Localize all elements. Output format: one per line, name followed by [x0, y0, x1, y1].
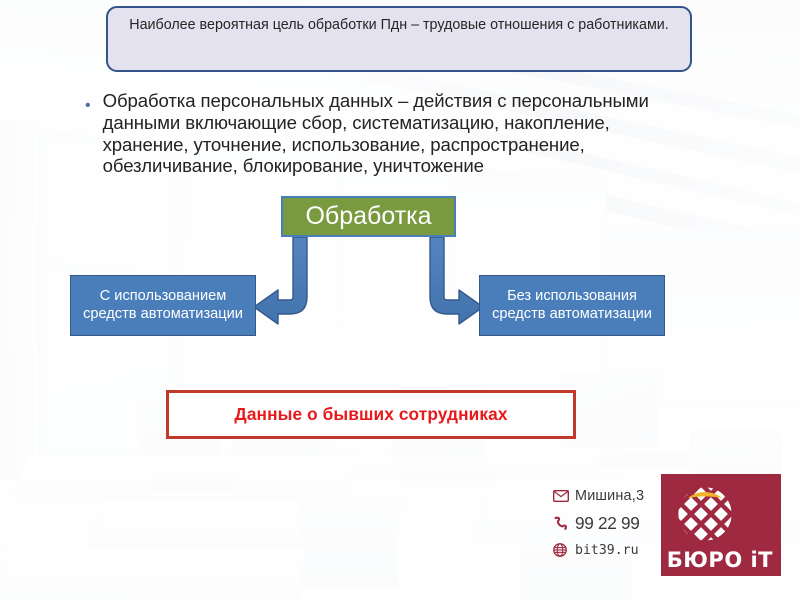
logo-caption: БЮРО iT	[667, 548, 773, 572]
globe-icon	[553, 543, 575, 557]
envelope-icon	[553, 490, 575, 502]
contact-phone: 99 22 99	[575, 513, 640, 534]
bullet-paragraph: • Обработка персональных данных – действ…	[85, 90, 685, 177]
diagram-node-processing: Обработка	[281, 196, 456, 237]
diagram-node-without-automation: Без использования средств автоматизации	[479, 275, 665, 336]
bullet-marker-icon: •	[85, 98, 91, 114]
contact-block: Мишина,3 99 22 99 bit39.ru	[553, 486, 644, 560]
contact-row-website: bit39.ru	[553, 540, 644, 560]
contact-website: bit39.ru	[575, 543, 639, 558]
diagram-node-with-automation: С использованием средств автоматизации	[70, 275, 256, 336]
contact-address: Мишина,3	[575, 488, 644, 504]
phone-icon	[553, 516, 575, 531]
contact-row-phone: 99 22 99	[553, 513, 644, 533]
slide-canvas: Наиболее вероятная цель обработки Пдн – …	[0, 0, 800, 600]
company-logo: БЮРО iT	[661, 474, 781, 576]
callout-box: Наиболее вероятная цель обработки Пдн – …	[106, 6, 692, 72]
former-employees-data-box: Данные о бывших сотрудниках	[166, 390, 576, 439]
contact-row-address: Мишина,3	[553, 486, 644, 506]
bullet-text: Обработка персональных данных – действия…	[103, 90, 685, 177]
